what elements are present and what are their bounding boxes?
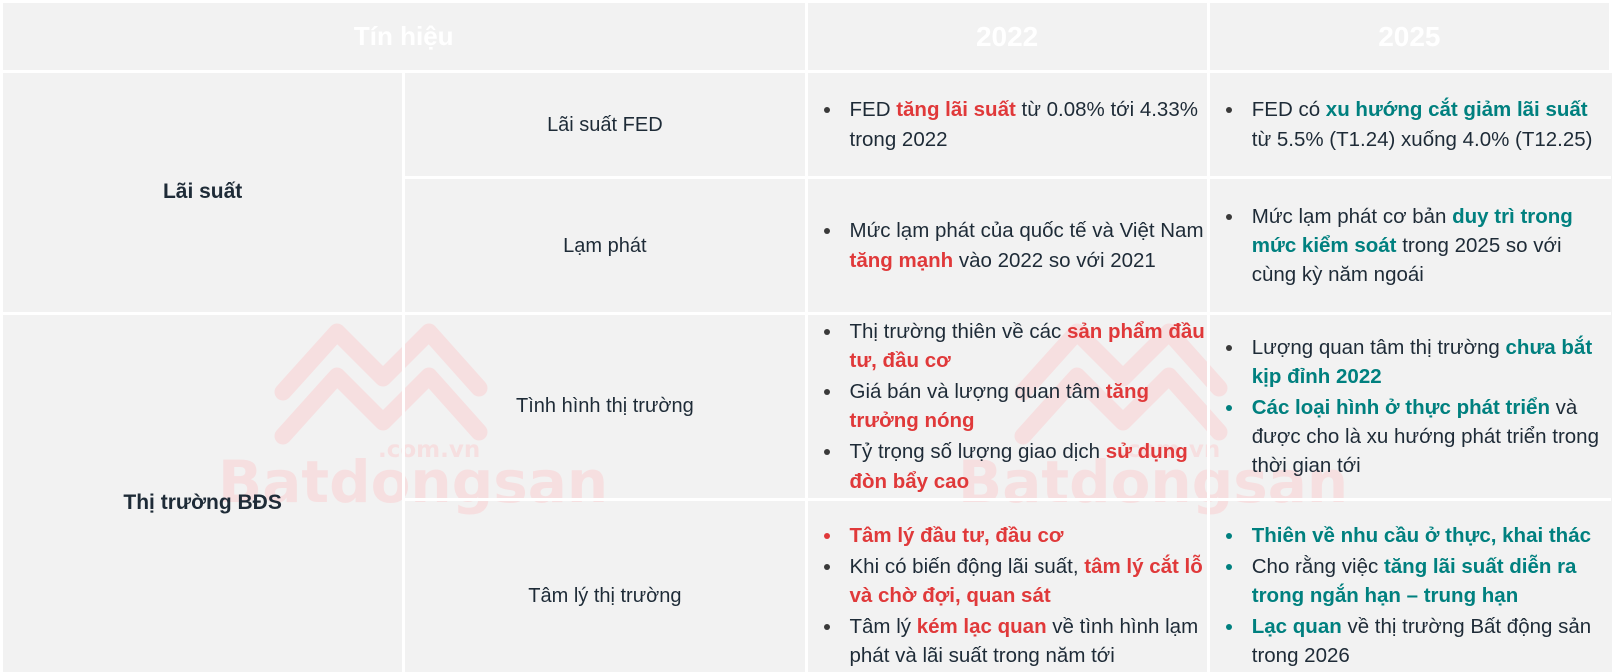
highlight-text: sản phẩm đầu tư, đầu cơ	[850, 320, 1205, 372]
header-signal: Tín hiệu	[2, 2, 807, 72]
highlight-text: tăng mạnh	[850, 249, 954, 272]
bullet-list: Lượng quan tâm thị trường chưa bắt kịp đ…	[1210, 333, 1611, 481]
bullet-item: Cho rằng việc tăng lãi suất diễn ra tron…	[1210, 552, 1611, 610]
bullet-item: FED có xu hướng cắt giảm lãi suất từ 5.5…	[1210, 95, 1611, 153]
highlight-text: Các loại hình ở thực phát triển	[1252, 396, 1550, 419]
bullet-item: FED tăng lãi suất từ 0.08% tới 4.33% tro…	[808, 95, 1207, 153]
table-row: Lãi suất Lãi suất FED FED tăng lãi suất …	[2, 72, 1611, 178]
highlight-text: tăng trưởng nóng	[850, 380, 1150, 432]
table-header: Tín hiệu 2022 2025	[2, 2, 1611, 72]
highlight-text: sử dụng đòn bẩy cao	[850, 440, 1188, 492]
cell-2025-lai-suat-fed: FED có xu hướng cắt giảm lãi suất từ 5.5…	[1208, 72, 1610, 178]
group-label-lai-suat: Lãi suất	[2, 72, 404, 314]
highlight-text: kém lạc quan	[917, 615, 1047, 638]
bullet-item: Tỷ trọng số lượng giao dịch sử dụng đòn …	[808, 437, 1207, 495]
highlight-text: duy trì trong mức kiểm soát	[1252, 205, 1573, 257]
header-2025: 2025	[1208, 2, 1610, 72]
bullet-list: Mức lạm phát cơ bản duy trì trong mức ki…	[1210, 202, 1611, 289]
bullet-item: Lượng quan tâm thị trường chưa bắt kịp đ…	[1210, 333, 1611, 391]
highlight-text: tăng lãi suất	[896, 98, 1016, 121]
highlight-text: xu hướng cắt giảm lãi suất	[1326, 98, 1588, 121]
bullet-item: Thị trường thiên về các sản phẩm đầu tư,…	[808, 317, 1207, 375]
cell-2022-lam-phat: Mức lạm phát của quốc tế và Việt Nam tăn…	[806, 178, 1208, 314]
bullet-list: FED tăng lãi suất từ 0.08% tới 4.33% tro…	[808, 95, 1207, 153]
cell-2025-lam-phat: Mức lạm phát cơ bản duy trì trong mức ki…	[1208, 178, 1610, 314]
bullet-item: Thiên về nhu cầu ở thực, khai thác	[1210, 521, 1611, 550]
highlight-text: chưa bắt kịp đỉnh 2022	[1252, 336, 1592, 388]
highlight-text: tâm lý cắt lỗ và chờ đợi, quan sát	[850, 555, 1203, 607]
bullet-item: Tâm lý đầu tư, đầu cơ	[808, 521, 1207, 550]
highlight-text: Thiên về nhu cầu ở thực, khai thác	[1252, 524, 1591, 547]
bullet-item: Mức lạm phát của quốc tế và Việt Nam tăn…	[808, 216, 1207, 274]
subject-lai-suat-fed: Lãi suất FED	[404, 72, 806, 178]
bullet-item: Các loại hình ở thực phát triển và được …	[1210, 393, 1611, 480]
group-label-thi-truong-bds: Thị trường BĐS	[2, 314, 404, 672]
table-header-row: Tín hiệu 2022 2025	[2, 2, 1611, 72]
cell-2025-tinh-hinh-thi-truong: Lượng quan tâm thị trường chưa bắt kịp đ…	[1208, 314, 1610, 500]
subject-tam-ly-thi-truong: Tâm lý thị trường	[404, 499, 806, 672]
bullet-list: Tâm lý đầu tư, đầu cơKhi có biến động lã…	[808, 521, 1207, 671]
subject-lam-phat: Lạm phát	[404, 178, 806, 314]
highlight-text: Lạc quan	[1252, 615, 1342, 638]
table-row: Thị trường BĐS Tình hình thị trường Thị …	[2, 314, 1611, 500]
comparison-table-sheet: .com.vn Batdongsan .com.vn Batdongsan Tí…	[0, 0, 1612, 672]
cell-2022-lai-suat-fed: FED tăng lãi suất từ 0.08% tới 4.33% tro…	[806, 72, 1208, 178]
bullet-list: FED có xu hướng cắt giảm lãi suất từ 5.5…	[1210, 95, 1611, 153]
bullet-list: Thiên về nhu cầu ở thực, khai thácCho rằ…	[1210, 521, 1611, 671]
cell-2022-tinh-hinh-thi-truong: Thị trường thiên về các sản phẩm đầu tư,…	[806, 314, 1208, 500]
cell-2022-tam-ly-thi-truong: Tâm lý đầu tư, đầu cơKhi có biến động lã…	[806, 499, 1208, 672]
bullet-item: Khi có biến động lãi suất, tâm lý cắt lỗ…	[808, 552, 1207, 610]
table-body: Lãi suất Lãi suất FED FED tăng lãi suất …	[2, 72, 1611, 672]
bullet-item: Tâm lý kém lạc quan về tình hình lạm phá…	[808, 612, 1207, 670]
signal-comparison-table: Tín hiệu 2022 2025 Lãi suất Lãi suất FED…	[0, 0, 1612, 672]
bullet-item: Mức lạm phát cơ bản duy trì trong mức ki…	[1210, 202, 1611, 289]
highlight-text: Tâm lý đầu tư, đầu cơ	[850, 524, 1064, 547]
bullet-item: Giá bán và lượng quan tâm tăng trưởng nó…	[808, 377, 1207, 435]
bullet-list: Thị trường thiên về các sản phẩm đầu tư,…	[808, 317, 1207, 496]
bullet-list: Mức lạm phát của quốc tế và Việt Nam tăn…	[808, 216, 1207, 274]
header-2022: 2022	[806, 2, 1208, 72]
subject-tinh-hinh-thi-truong: Tình hình thị trường	[404, 314, 806, 500]
bullet-item: Lạc quan về thị trường Bất động sản tron…	[1210, 612, 1611, 670]
cell-2025-tam-ly-thi-truong: Thiên về nhu cầu ở thực, khai thácCho rằ…	[1208, 499, 1610, 672]
highlight-text: tăng lãi suất diễn ra trong ngắn hạn – t…	[1252, 555, 1577, 607]
